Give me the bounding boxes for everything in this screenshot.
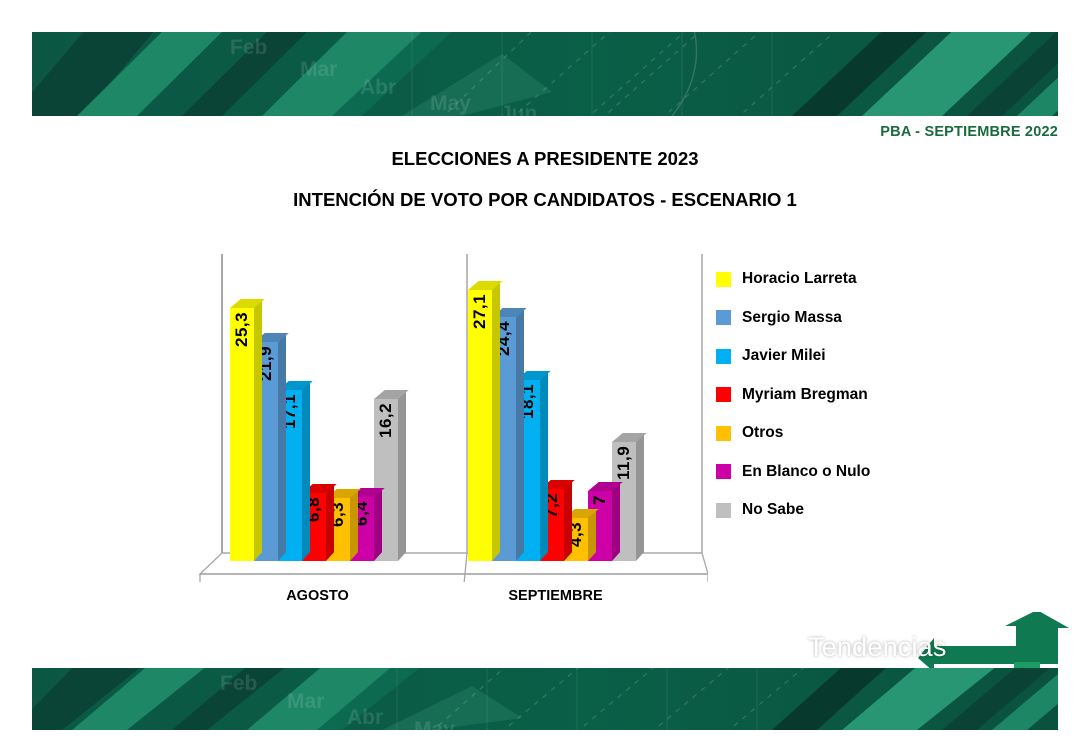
bar-side-face xyxy=(278,333,286,561)
banner-month-mar-bottom: Mar xyxy=(287,690,324,713)
bottom-decorative-banner: Feb Mar Abr May Jun xyxy=(32,668,1058,730)
top-decorative-banner: Feb Mar Abr May Jun Jul xyxy=(32,32,1058,116)
category-label-septiembre: SEPTIEMBRE xyxy=(468,588,643,604)
legend-item[interactable]: Sergio Massa xyxy=(716,299,1006,338)
bar-side-face xyxy=(564,480,572,561)
banner-month-feb: Feb xyxy=(230,36,267,59)
banner-month-may-bottom: May xyxy=(414,718,455,730)
bar-horacio-larreta-septiembre[interactable]: 27,1 xyxy=(468,290,492,561)
bar-side-face xyxy=(636,433,644,561)
legend-item-label: Horacio Larreta xyxy=(742,270,857,288)
legend-color-swatch xyxy=(716,426,731,441)
chart-title-primary: ELECCIONES A PRESIDENTE 2023 xyxy=(0,148,1090,170)
chart-legend: Horacio LarretaSergio MassaJavier MileiM… xyxy=(716,260,1006,530)
bar-side-face xyxy=(326,484,334,561)
legend-color-swatch xyxy=(716,387,731,402)
bar-side-face xyxy=(398,390,406,561)
legend-item[interactable]: Horacio Larreta xyxy=(716,260,1006,299)
legend-item[interactable]: Myriam Bregman xyxy=(716,376,1006,415)
category-label-agosto: AGOSTO xyxy=(230,588,405,604)
bar-side-face xyxy=(540,371,548,561)
bar-value-label: 27,1 xyxy=(468,294,492,557)
banner-month-jun: Jun xyxy=(500,102,537,116)
legend-item-label: En Blanco o Nulo xyxy=(742,463,870,481)
bar-side-face xyxy=(302,381,310,561)
bottom-banner-graphic: Feb Mar Abr May Jun xyxy=(32,668,1058,730)
legend-item[interactable]: Javier Milei xyxy=(716,337,1006,376)
legend-item-label: No Sabe xyxy=(742,501,804,519)
banner-month-feb-bottom: Feb xyxy=(220,672,257,695)
legend-item-label: Javier Milei xyxy=(742,347,826,365)
legend-color-swatch xyxy=(716,310,731,325)
bar-value-label: 25,3 xyxy=(230,312,254,557)
banner-month-jul: Jul xyxy=(580,114,610,116)
bar-side-face xyxy=(254,299,262,561)
banner-month-abr: Abr xyxy=(360,76,396,99)
bar-side-face xyxy=(516,308,524,561)
legend-item[interactable]: En Blanco o Nulo xyxy=(716,453,1006,492)
bar-side-face xyxy=(350,489,358,561)
legend-color-swatch xyxy=(716,272,731,287)
legend-item-label: Otros xyxy=(742,424,783,442)
bar-horacio-larreta-agosto[interactable]: 25,3 xyxy=(230,308,254,561)
logo-text: Tendencias xyxy=(808,632,947,663)
report-period-label: PBA - SEPTIEMBRE 2022 xyxy=(880,124,1058,140)
bar-chart: 25,321,917,16,86,36,416,2 27,124,418,17,… xyxy=(196,252,708,582)
legend-item[interactable]: No Sabe xyxy=(716,491,1006,530)
top-banner-graphic: Feb Mar Abr May Jun Jul xyxy=(32,32,1058,116)
banner-month-abr-bottom: Abr xyxy=(347,706,383,729)
banner-month-mar: Mar xyxy=(300,58,337,81)
legend-item[interactable]: Otros xyxy=(716,414,1006,453)
legend-color-swatch xyxy=(716,503,731,518)
legend-color-swatch xyxy=(716,349,731,364)
bar-side-face xyxy=(492,281,500,561)
bar-side-face xyxy=(612,482,620,561)
legend-item-label: Sergio Massa xyxy=(742,309,842,327)
legend-item-label: Myriam Bregman xyxy=(742,386,868,404)
banner-month-jun-bottom: Jun xyxy=(482,726,519,730)
bar-side-face xyxy=(374,488,382,561)
chart-title-secondary: INTENCIÓN DE VOTO POR CANDIDATOS - ESCEN… xyxy=(0,189,1090,211)
legend-color-swatch xyxy=(716,464,731,479)
banner-month-may: May xyxy=(430,92,471,115)
